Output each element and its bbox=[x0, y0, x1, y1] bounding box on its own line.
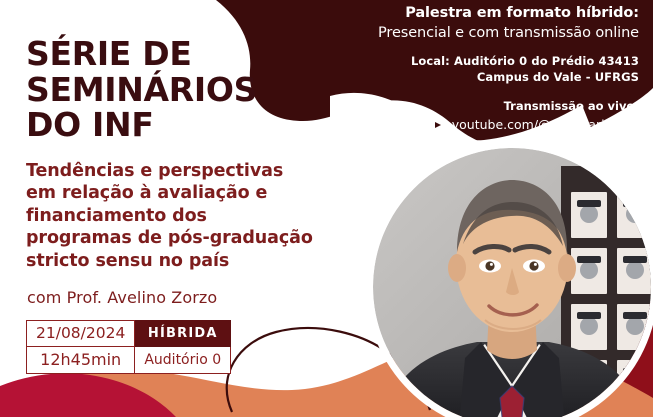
subtitle-line-5: stricto sensu no país bbox=[26, 250, 376, 272]
page-title: SÉRIE DE SEMINÁRIOS DO INF bbox=[26, 36, 356, 143]
location-line-1: Local: Auditório 0 do Prédio 43413 bbox=[309, 54, 639, 70]
subtitle-line-2: em relação à avaliação e bbox=[26, 182, 376, 204]
table-row: 21/08/2024 HÍBRIDA bbox=[27, 321, 231, 347]
speaker-portrait bbox=[373, 148, 651, 417]
format-line-1: Palestra em formato híbrido: bbox=[309, 4, 639, 24]
event-time: 12h45min bbox=[27, 347, 135, 374]
title-line-2: SEMINÁRIOS bbox=[26, 72, 356, 108]
table-row: 12h45min Auditório 0 bbox=[27, 347, 231, 374]
event-details-table: 21/08/2024 HÍBRIDA 12h45min Auditório 0 bbox=[26, 320, 231, 374]
talk-subtitle: Tendências e perspectivas em relação à a… bbox=[26, 160, 376, 272]
title-line-1: SÉRIE DE bbox=[26, 36, 356, 72]
format-line-2: Presencial e com transmissão online bbox=[309, 24, 639, 44]
live-label: Transmissão ao vivo: bbox=[309, 98, 639, 114]
youtube-play-icon bbox=[429, 119, 446, 131]
youtube-url-text: youtube.com/@seminariosINF bbox=[452, 116, 639, 134]
event-location: Local: Auditório 0 do Prédio 43413 Campu… bbox=[309, 54, 639, 86]
subtitle-line-1: Tendências e perspectivas bbox=[26, 160, 376, 182]
title-line-3: DO INF bbox=[26, 107, 356, 143]
event-date: 21/08/2024 bbox=[27, 321, 135, 347]
event-format: Palestra em formato híbrido: Presencial … bbox=[309, 4, 639, 43]
speaker-name: com Prof. Avelino Zorzo bbox=[27, 288, 217, 307]
youtube-link[interactable]: youtube.com/@seminariosINF bbox=[309, 116, 639, 134]
live-stream-info: Transmissão ao vivo: youtube.com/@semina… bbox=[309, 98, 639, 134]
header-info: Palestra em formato híbrido: Presencial … bbox=[309, 4, 639, 133]
seminar-poster: Palestra em formato híbrido: Presencial … bbox=[0, 0, 653, 417]
event-room: Auditório 0 bbox=[135, 347, 231, 374]
subtitle-line-4: programas de pós-graduação bbox=[26, 227, 376, 249]
event-mode-badge: HÍBRIDA bbox=[135, 321, 231, 347]
location-line-2: Campus do Vale - UFRGS bbox=[309, 70, 639, 86]
title-block: SÉRIE DE SEMINÁRIOS DO INF bbox=[26, 36, 356, 143]
subtitle-line-3: financiamento dos bbox=[26, 205, 376, 227]
portrait-illustration bbox=[373, 148, 651, 417]
